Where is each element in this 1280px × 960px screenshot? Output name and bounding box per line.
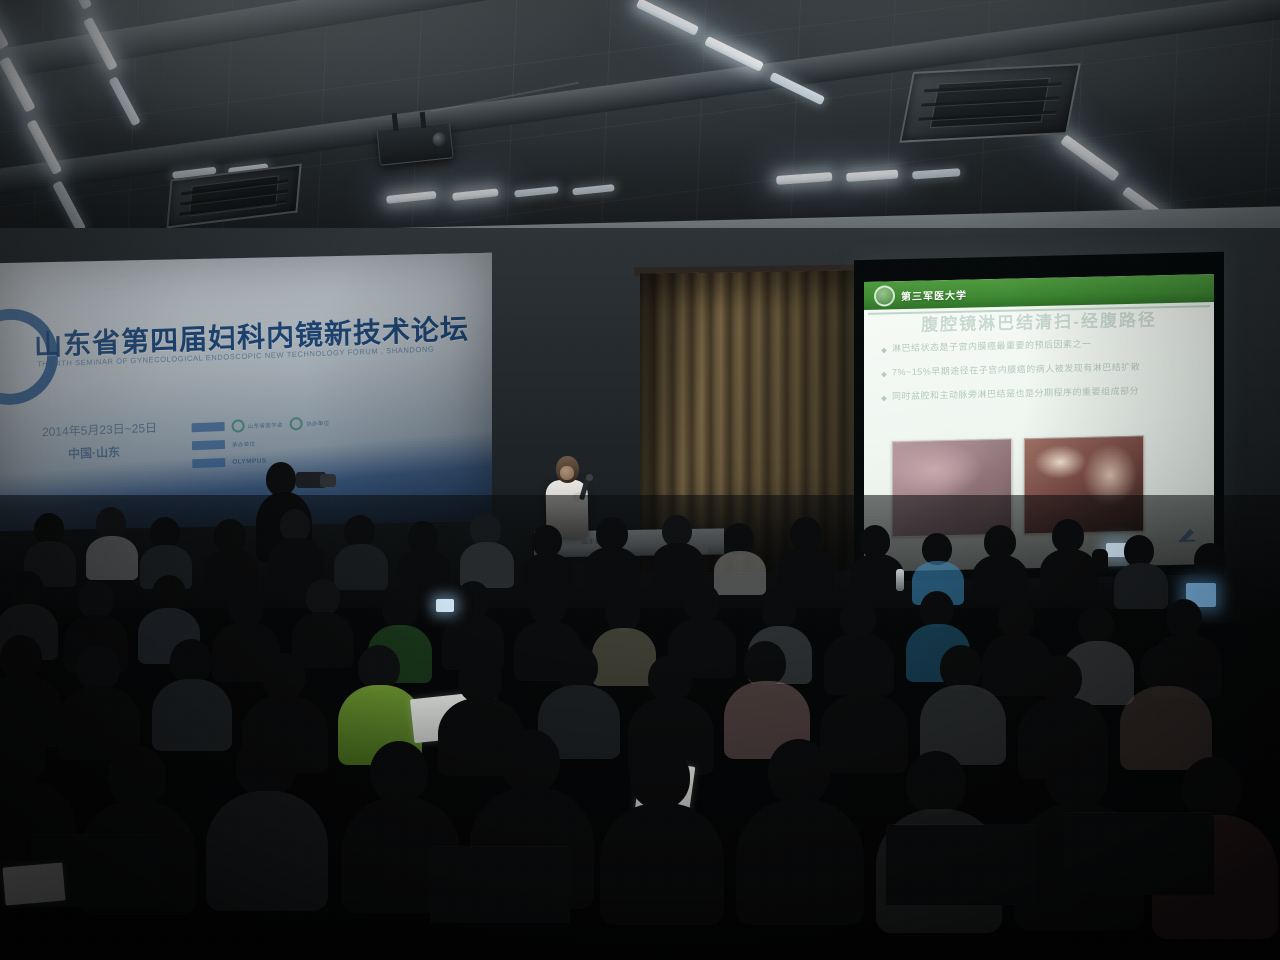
university-logo-icon [874, 285, 895, 306]
sponsor-logo: 山东省医学会 [232, 418, 284, 433]
sponsor-row: 山东省医学会 协办单位 [192, 417, 330, 433]
phone-screen [436, 599, 454, 612]
bullet-marker-icon [881, 348, 887, 354]
sponsor-name: 山东省医学会 [248, 420, 284, 429]
banner-date: 2014年5月23日~25日 [42, 419, 157, 440]
slide-bullet: 淋巴结状态是子宫内膜癌最重要的预后因素之一 [882, 336, 1204, 354]
event-banner: 山东省第四届妇科内镜新技术论坛 THE 4TH SEMINAR OF GYNEC… [0, 253, 492, 531]
chair-back [430, 847, 570, 923]
sponsor-row: 承办单位 [192, 435, 330, 451]
sponsor-tag [192, 458, 225, 468]
slide-title: 腹腔镜淋巴结清扫-经腹路径 [864, 304, 1214, 337]
bullet-marker-icon [881, 395, 887, 401]
chair-back [886, 825, 1036, 905]
water-bottle [896, 569, 904, 591]
speaker-face [560, 466, 574, 480]
bullet-text: 7%~15%早期途径在子宫内膜癌的病人被发现有淋巴结扩散 [892, 361, 1140, 377]
slide-bullet-list: 淋巴结状态是子宫内膜癌最重要的预后因素之一 7%~15%早期途径在子宫内膜癌的病… [882, 336, 1204, 415]
sponsor-name-olympus: OLYMPUS [232, 457, 266, 465]
slide-university-name: 第三军医大学 [901, 286, 967, 302]
camera-lens [320, 474, 336, 487]
handout-paper [2, 862, 65, 905]
sponsor-tag [192, 422, 225, 432]
sponsor-logo-secondary: 协办单位 [290, 416, 330, 431]
sponsor-mark-icon [290, 417, 303, 430]
microphone-head [586, 474, 593, 481]
ceiling-projector [376, 122, 453, 166]
sponsor-tag [192, 440, 225, 450]
banner-ring-logo [0, 308, 58, 406]
sponsor-mark-icon [232, 419, 245, 432]
bullet-marker-icon [881, 371, 887, 377]
banner-sponsor-block: 山东省医学会 协办单位 承办单位 OLYMPUS [192, 417, 331, 476]
audience-area [0, 495, 1280, 960]
banner-title: 山东省第四届妇科内镜新技术论坛 [34, 307, 470, 364]
sponsor-row: OLYMPUS [192, 453, 330, 469]
conference-hall-scene: 山东省第四届妇科内镜新技术论坛 THE 4TH SEMINAR OF GYNEC… [0, 0, 1280, 960]
chair-back [1064, 813, 1214, 895]
bullet-text: 淋巴结状态是子宫内膜癌最重要的预后因素之一 [892, 339, 1092, 354]
sponsor-name: 协办单位 [306, 418, 330, 427]
banner-place: 中国·山东 [68, 443, 120, 462]
slide-bullet: 同时盆腔和主动脉旁淋巴结是也是分期程序的重要组成部分 [882, 384, 1204, 402]
bullet-text: 同时盆腔和主动脉旁淋巴结是也是分期程序的重要组成部分 [892, 385, 1139, 401]
sponsor-name: 承办单位 [232, 439, 256, 448]
slide-bullet: 7%~15%早期途径在子宫内膜癌的病人被发现有淋巴结扩散 [882, 360, 1204, 378]
banner-subtitle: THE 4TH SEMINAR OF GYNECOLOGICAL ENDOSCO… [37, 345, 435, 369]
